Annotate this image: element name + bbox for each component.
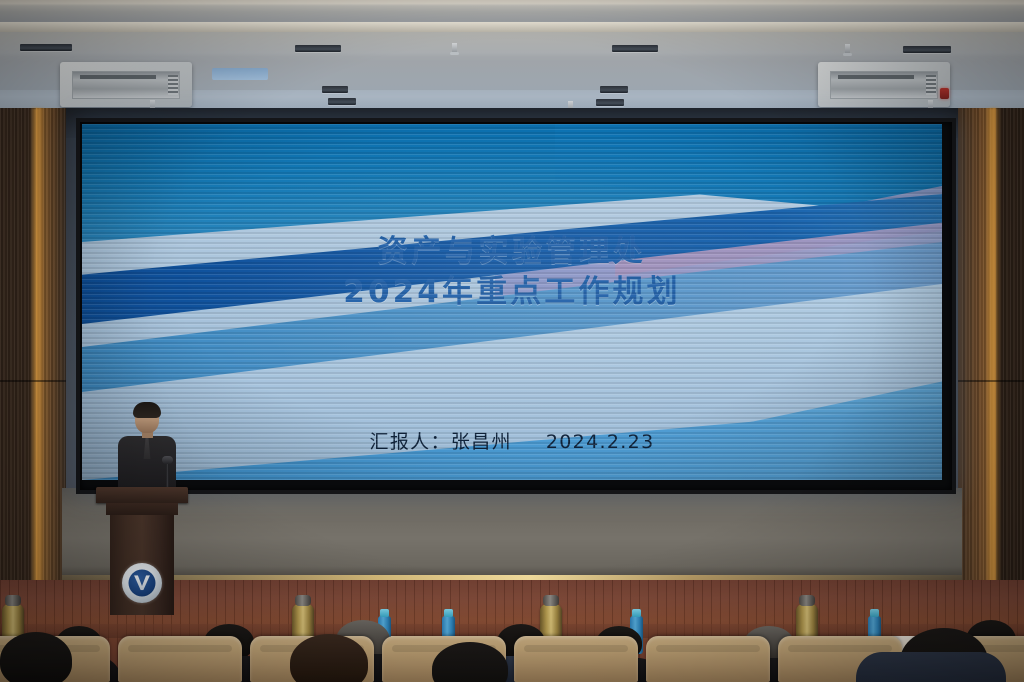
ceiling-vent	[295, 45, 341, 52]
sprinkler-icon	[452, 43, 457, 54]
podium-neck	[106, 503, 178, 515]
ac-grill-icon	[168, 75, 178, 95]
ceiling-vent	[596, 99, 624, 106]
ceiling-beam	[0, 22, 1024, 32]
led-screen[interactable]: 资产与实验管理处 2024年重点工作规划 汇报人：张昌州2024.2.23	[82, 124, 942, 480]
ceiling-vent	[328, 98, 356, 105]
wood-highlight-right	[986, 108, 1000, 608]
speaker-hair	[133, 402, 161, 418]
auditorium-seat	[514, 636, 638, 682]
speaker	[116, 404, 178, 496]
wood-seam	[958, 380, 1024, 382]
podium-top	[96, 487, 188, 503]
air-conditioner-unit	[60, 62, 192, 107]
conference-hall-photo: 资产与实验管理处 2024年重点工作规划 汇报人：张昌州2024.2.23	[0, 0, 1024, 682]
auditorium-seat	[646, 636, 770, 682]
auditorium-seat	[118, 636, 242, 682]
fire-alarm-icon	[940, 88, 949, 99]
slide-footer: 汇报人：张昌州2024.2.23	[82, 427, 942, 454]
slide-title: 资产与实验管理处 2024年重点工作规划	[82, 232, 942, 313]
ceiling-vent	[600, 86, 628, 93]
wall-below-screen	[62, 488, 962, 580]
attendee-head-front	[0, 632, 72, 682]
ceiling-panel	[212, 68, 268, 80]
slide-title-line-2: 2024年重点工作规划	[82, 272, 942, 313]
sprinkler-icon	[845, 44, 850, 55]
slide-title-line-1: 资产与实验管理处	[82, 232, 942, 272]
wood-slats-right-outer	[996, 108, 1024, 608]
audience	[0, 588, 1024, 682]
wood-highlight-left	[30, 108, 44, 608]
ceiling-vent	[612, 45, 658, 52]
ceiling-vent	[20, 44, 72, 51]
ceiling-vent	[322, 86, 348, 93]
presenter-name: 张昌州	[451, 431, 512, 453]
presenter-label: 汇报人：	[370, 431, 451, 453]
presentation-slide: 资产与实验管理处 2024年重点工作规划 汇报人：张昌州2024.2.23	[82, 124, 942, 480]
ac-grill-icon	[926, 75, 936, 95]
slide-date: 2024.2.23	[546, 431, 655, 453]
ceiling-vent	[903, 46, 951, 53]
wood-seam	[0, 380, 66, 382]
microphone-icon	[162, 456, 173, 464]
attendee-shoulders-front	[856, 652, 1006, 682]
